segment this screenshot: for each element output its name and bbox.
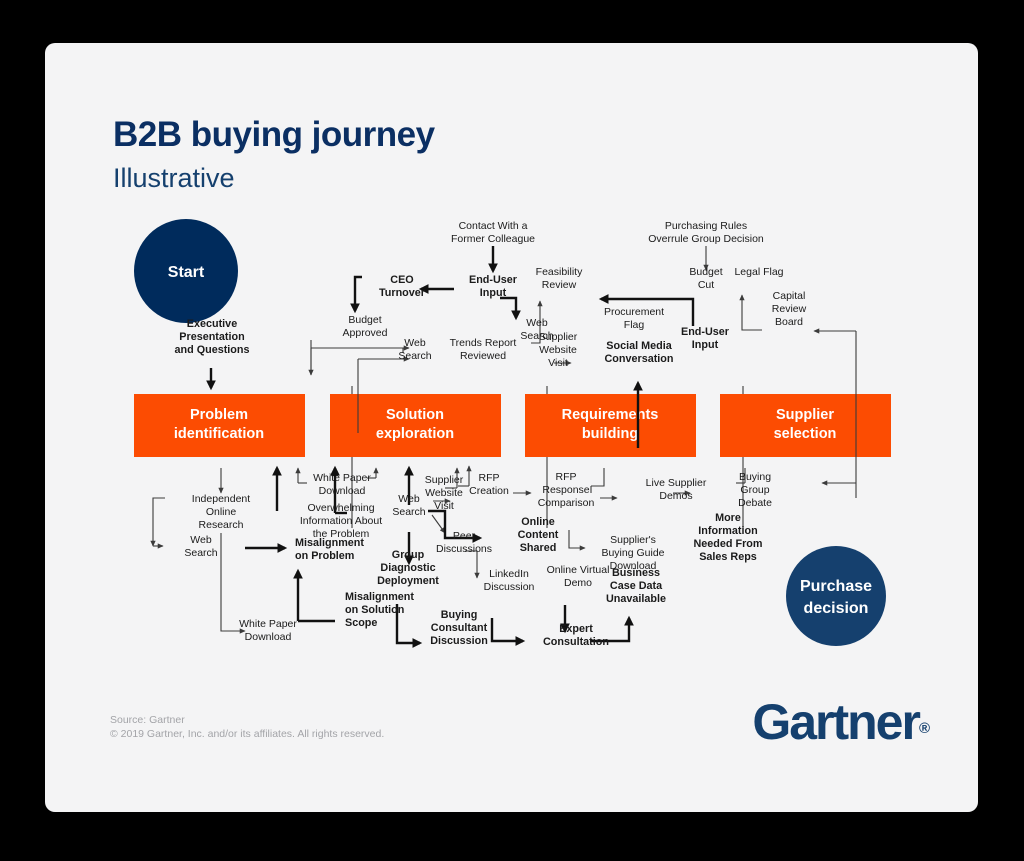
start-node-label: Start [168, 264, 205, 281]
node-live-supplier-demos: Live Supplier Demos [646, 477, 707, 502]
node-white-paper-download-left: White Paper Download [239, 618, 297, 643]
svg-text:Demo: Demo [564, 577, 592, 589]
node-business-case-data: Business Case Data Unavailable [606, 567, 666, 605]
node-capital-review-board: Capital Review Board [772, 290, 807, 328]
svg-text:Discussions: Discussions [436, 543, 492, 555]
below-node-labels: Independent Online Research Web Search W… [184, 471, 772, 648]
svg-text:Online: Online [206, 506, 237, 518]
svg-text:Business: Business [612, 567, 660, 579]
svg-text:Needed From: Needed From [694, 538, 763, 550]
svg-text:Supplier: Supplier [539, 331, 578, 343]
svg-text:Research: Research [199, 519, 244, 531]
svg-text:Review: Review [542, 279, 577, 291]
svg-text:Search: Search [184, 547, 217, 559]
node-white-paper-download-mid: White Paper Download [313, 472, 371, 497]
stage-box-solution-exploration[interactable]: Solution exploration [330, 394, 501, 457]
svg-text:Legal Flag: Legal Flag [734, 266, 783, 278]
svg-text:Former Colleague: Former Colleague [451, 233, 535, 245]
stage-box-requirements-building[interactable]: Requirements building [525, 394, 696, 457]
gartner-logo-text: Gartner [752, 694, 919, 750]
svg-text:Contact With a: Contact With a [459, 220, 528, 232]
svg-text:Consultation: Consultation [543, 636, 609, 648]
stage-box-supplier-selection[interactable]: Supplier selection [720, 394, 891, 457]
above-node-labels: Contact With a Former Colleague Purchasi… [175, 220, 807, 369]
svg-text:Live Supplier: Live Supplier [646, 477, 707, 489]
svg-text:Web: Web [190, 534, 212, 546]
svg-text:Buying: Buying [739, 471, 771, 483]
svg-text:CEO: CEO [390, 274, 413, 286]
node-expert-consultation: Expert Consultation [543, 623, 609, 648]
svg-text:Buying: Buying [441, 609, 478, 621]
node-legal-flag: Legal Flag [734, 266, 783, 278]
stage-box-problem-identification[interactable]: Problem identification [134, 394, 305, 457]
svg-text:LinkedIn: LinkedIn [489, 568, 529, 580]
node-social-media-conversation: Social Media Conversation [605, 340, 674, 365]
screenshot-root: B2B buying journey Illustrative Start Pu… [0, 0, 1024, 861]
svg-text:Board: Board [775, 316, 803, 328]
svg-text:Shared: Shared [520, 542, 557, 554]
node-misalignment-on-solution-scope: Misalignment on Solution Scope [345, 591, 414, 629]
purchase-decision-line2: decision [804, 600, 869, 617]
node-supplier-website-visit-top: Supplier Website Visit [539, 331, 578, 369]
purchase-decision-node: Purchase decision [786, 546, 886, 646]
node-budget-approved: Budget Approved [343, 314, 388, 339]
svg-text:Unavailable: Unavailable [606, 593, 666, 605]
svg-text:the Problem: the Problem [313, 528, 370, 540]
gartner-logo: Gartner® [752, 693, 930, 751]
svg-text:Response: Response [542, 484, 589, 496]
svg-text:Web: Web [398, 493, 420, 505]
svg-text:Deployment: Deployment [377, 575, 439, 587]
svg-text:Discussion: Discussion [484, 581, 535, 593]
node-feasibility-review: Feasibility Review [536, 266, 583, 291]
svg-text:RFP: RFP [479, 472, 500, 484]
registered-mark: ® [919, 720, 930, 737]
svg-text:Overwhelming: Overwhelming [307, 502, 374, 514]
svg-text:Online Virtual: Online Virtual [547, 564, 610, 576]
svg-text:Social Media: Social Media [606, 340, 672, 352]
svg-text:Budget: Budget [348, 314, 381, 326]
svg-text:RFP: RFP [556, 471, 577, 483]
svg-text:Procurement: Procurement [604, 306, 664, 318]
svg-text:Trends Report: Trends Report [450, 337, 517, 349]
node-overwhelming-information: Overwhelming Information About the Probl… [300, 502, 382, 540]
svg-text:Supplier: Supplier [425, 474, 464, 486]
node-contact-former-colleague: Contact With a Former Colleague [451, 220, 535, 245]
svg-text:Buying Guide: Buying Guide [601, 547, 664, 559]
svg-text:Feasibility: Feasibility [536, 266, 583, 278]
svg-text:Scope: Scope [345, 617, 377, 629]
svg-text:Overrule Group Decision: Overrule Group Decision [648, 233, 764, 245]
svg-text:Review: Review [772, 303, 807, 315]
stage-label-line1: Problem [190, 407, 248, 423]
purchase-decision-line1: Purchase [800, 578, 872, 595]
node-online-virtual-demo: Online Virtual Demo [547, 564, 610, 589]
svg-text:Web: Web [526, 317, 548, 329]
svg-text:Search: Search [398, 350, 431, 362]
svg-text:Comparison: Comparison [538, 497, 595, 509]
node-web-search-budget: Web Search [398, 337, 431, 362]
stage-label-line2: building [582, 426, 638, 442]
node-misalignment-on-problem: Misalignment on Problem [295, 537, 364, 562]
node-web-search-left: Web Search [184, 534, 217, 559]
svg-text:Peer: Peer [453, 530, 476, 542]
infographic-card: B2B buying journey Illustrative Start Pu… [45, 43, 978, 812]
svg-text:End-User: End-User [469, 274, 518, 286]
svg-text:Content: Content [518, 529, 559, 541]
svg-text:on Solution: on Solution [345, 604, 404, 616]
svg-text:Website: Website [539, 344, 577, 356]
source-note: Source: Gartner © 2019 Gartner, Inc. and… [110, 713, 384, 741]
svg-text:White Paper: White Paper [313, 472, 371, 484]
node-rfp-response-comparison: RFP Response Comparison [538, 471, 595, 509]
svg-text:Online: Online [521, 516, 555, 528]
svg-text:Diagnostic: Diagnostic [380, 562, 435, 574]
node-online-content-shared: Online Content Shared [518, 516, 559, 554]
svg-text:Information: Information [698, 525, 757, 537]
node-buying-consultant-discussion: Buying Consultant Discussion [430, 609, 488, 647]
node-buying-group-debate: Buying Group Debate [738, 471, 772, 509]
start-node: Start [134, 219, 238, 323]
svg-text:Input: Input [692, 339, 719, 351]
svg-text:Independent: Independent [192, 493, 250, 505]
node-procurement-flag: Procurement Flag [604, 306, 664, 331]
svg-text:Download: Download [245, 631, 292, 643]
svg-text:Download: Download [319, 485, 366, 497]
svg-text:Demos: Demos [659, 490, 692, 502]
svg-text:Supplier's: Supplier's [610, 534, 656, 546]
node-more-information-needed: More Information Needed From Sales Reps [694, 512, 763, 563]
stage-label-line1: Solution [386, 407, 444, 423]
node-trends-report-reviewed: Trends Report Reviewed [450, 337, 517, 362]
node-rfp-creation: RFP Creation [469, 472, 509, 497]
svg-text:Misalignment: Misalignment [345, 591, 414, 603]
svg-text:White Paper: White Paper [239, 618, 297, 630]
svg-text:Case Data: Case Data [610, 580, 663, 592]
node-web-search-mid: Web Search [392, 493, 425, 518]
node-supplier-website-visit: Supplier Website Visit [425, 474, 464, 512]
svg-text:Turnover: Turnover [379, 287, 426, 299]
svg-text:Website: Website [425, 487, 463, 499]
svg-text:Search: Search [392, 506, 425, 518]
stage-label-line2: selection [774, 426, 837, 442]
svg-text:Visit: Visit [548, 357, 568, 369]
node-purchasing-rules: Purchasing Rules Overrule Group Decision [648, 220, 764, 245]
svg-text:Executive: Executive [187, 318, 237, 330]
node-budget-cut: Budget Cut [689, 266, 722, 291]
stage-label-line1: Supplier [776, 407, 834, 423]
svg-text:on Problem: on Problem [295, 550, 354, 562]
svg-text:Approved: Approved [343, 327, 388, 339]
svg-text:Group: Group [740, 484, 769, 496]
svg-text:Discussion: Discussion [430, 635, 488, 647]
svg-text:Group: Group [392, 549, 425, 561]
svg-text:More: More [715, 512, 741, 524]
stage-label-line1: Requirements [562, 407, 659, 423]
svg-text:Expert: Expert [559, 623, 593, 635]
svg-text:Consultant: Consultant [431, 622, 488, 634]
svg-text:Reviewed: Reviewed [460, 350, 506, 362]
node-ceo-turnover: CEO Turnover [379, 274, 426, 299]
stage-label-line2: exploration [376, 426, 454, 442]
svg-text:Visit: Visit [434, 500, 454, 512]
svg-text:Sales Reps: Sales Reps [699, 551, 757, 563]
svg-text:Input: Input [480, 287, 507, 299]
svg-text:Conversation: Conversation [605, 353, 674, 365]
stage-label-line2: identification [174, 426, 264, 442]
node-end-user-input-right: End-User Input [681, 326, 730, 351]
svg-text:Purchasing Rules: Purchasing Rules [665, 220, 747, 232]
node-executive-presentation: Executive Presentation and Questions [175, 318, 250, 356]
svg-text:Debate: Debate [738, 497, 772, 509]
svg-text:Presentation: Presentation [179, 331, 244, 343]
svg-text:Creation: Creation [469, 485, 509, 497]
node-independent-online-research: Independent Online Research [192, 493, 250, 531]
node-group-diagnostic-deployment: Group Diagnostic Deployment [377, 549, 439, 587]
svg-text:Budget: Budget [689, 266, 722, 278]
svg-text:Flag: Flag [624, 319, 645, 331]
svg-text:and Questions: and Questions [175, 344, 250, 356]
svg-text:Web: Web [404, 337, 426, 349]
svg-text:Information About: Information About [300, 515, 382, 527]
svg-text:Capital: Capital [773, 290, 806, 302]
svg-text:End-User: End-User [681, 326, 730, 338]
node-linkedin-discussion: LinkedIn Discussion [484, 568, 535, 593]
svg-text:Cut: Cut [698, 279, 714, 291]
node-end-user-input-left: End-User Input [469, 274, 518, 299]
